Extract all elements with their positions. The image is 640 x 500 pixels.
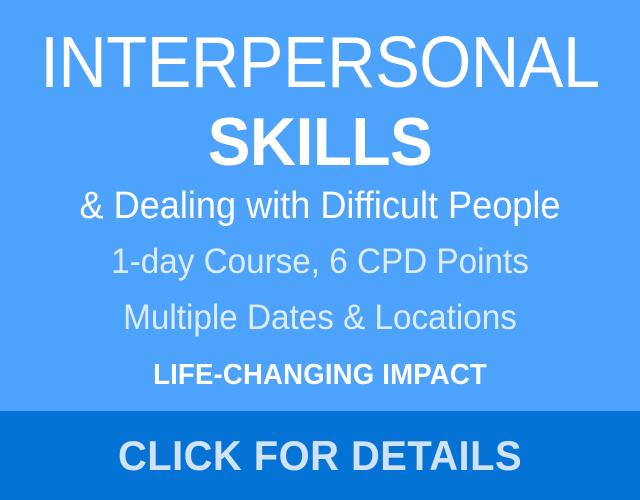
click-for-details-button[interactable]: CLICK FOR DETAILS [0,411,640,500]
cta-button-label: CLICK FOR DETAILS [16,434,624,478]
page-title-line-1: INTERPERSONAL [22,27,617,99]
promo-panel: INTERPERSONAL SKILLS & Dealing with Diff… [0,0,640,411]
subtitle: & Dealing with Difficult People [16,186,624,226]
detail-line-course-info: 1-day Course, 6 CPD Points [16,243,624,281]
strapline: LIFE-CHANGING IMPACT [16,360,624,390]
advertisement-banner[interactable]: INTERPERSONAL SKILLS & Dealing with Diff… [0,0,640,500]
detail-line-dates-locations: Multiple Dates & Locations [16,299,624,337]
page-title-line-2: SKILLS [19,108,621,176]
